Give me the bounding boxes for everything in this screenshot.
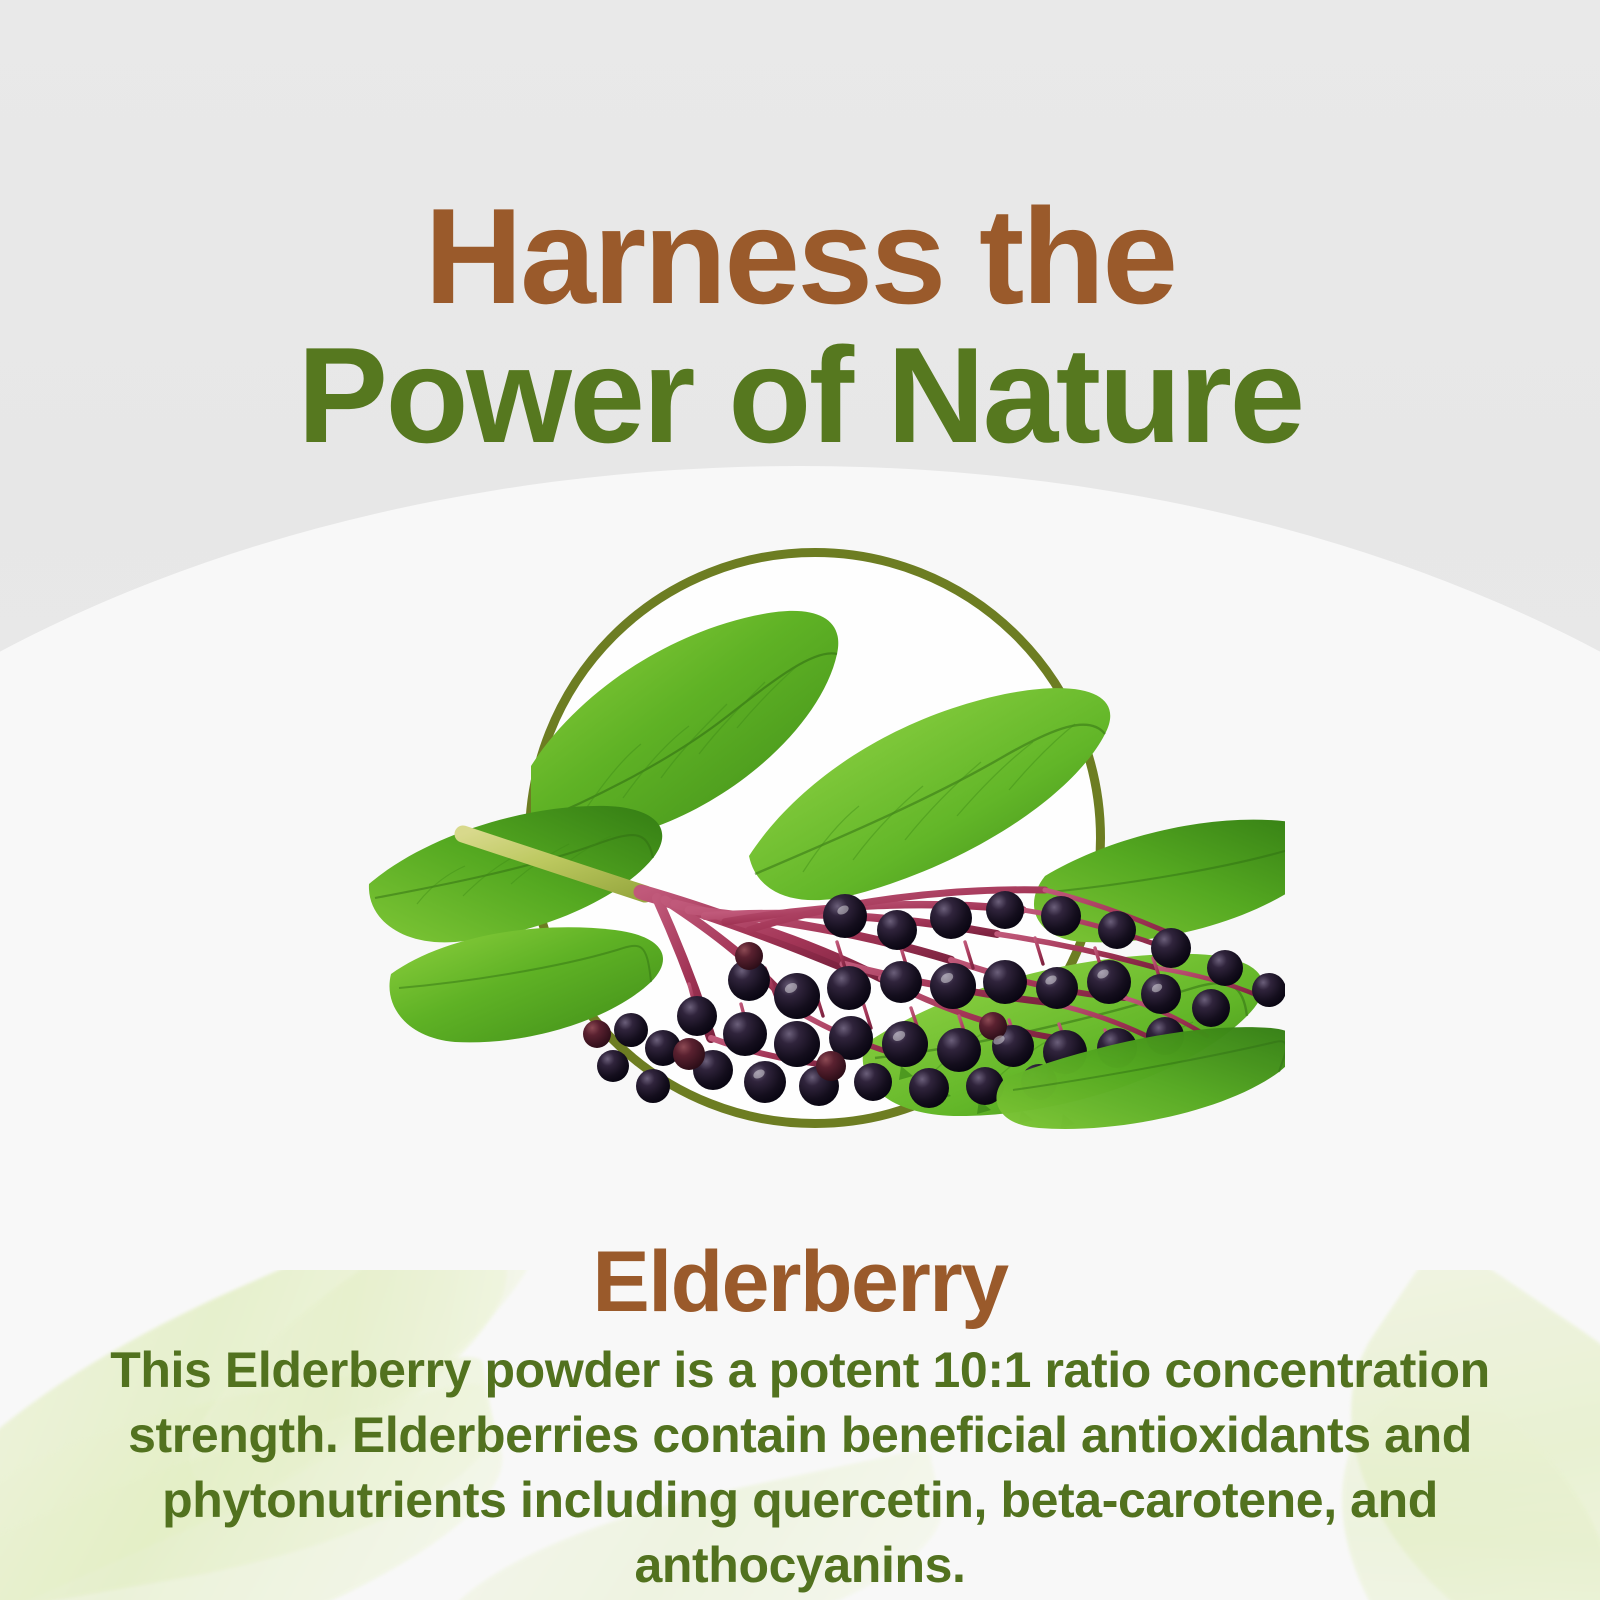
product-description: This Elderberry powder is a potent 10:1 … (80, 1338, 1520, 1598)
page-title-line-1: Harness the (0, 187, 1600, 326)
page-title: Harness the Power of Nature (0, 187, 1600, 464)
elderberry-photo (345, 538, 1285, 1138)
page-title-line-2: Power of Nature (0, 326, 1600, 465)
product-image-badge (525, 548, 1105, 1128)
product-title: Elderberry (0, 1239, 1600, 1325)
product-highlight-panel: Harness the Power of Nature (0, 0, 1600, 1600)
